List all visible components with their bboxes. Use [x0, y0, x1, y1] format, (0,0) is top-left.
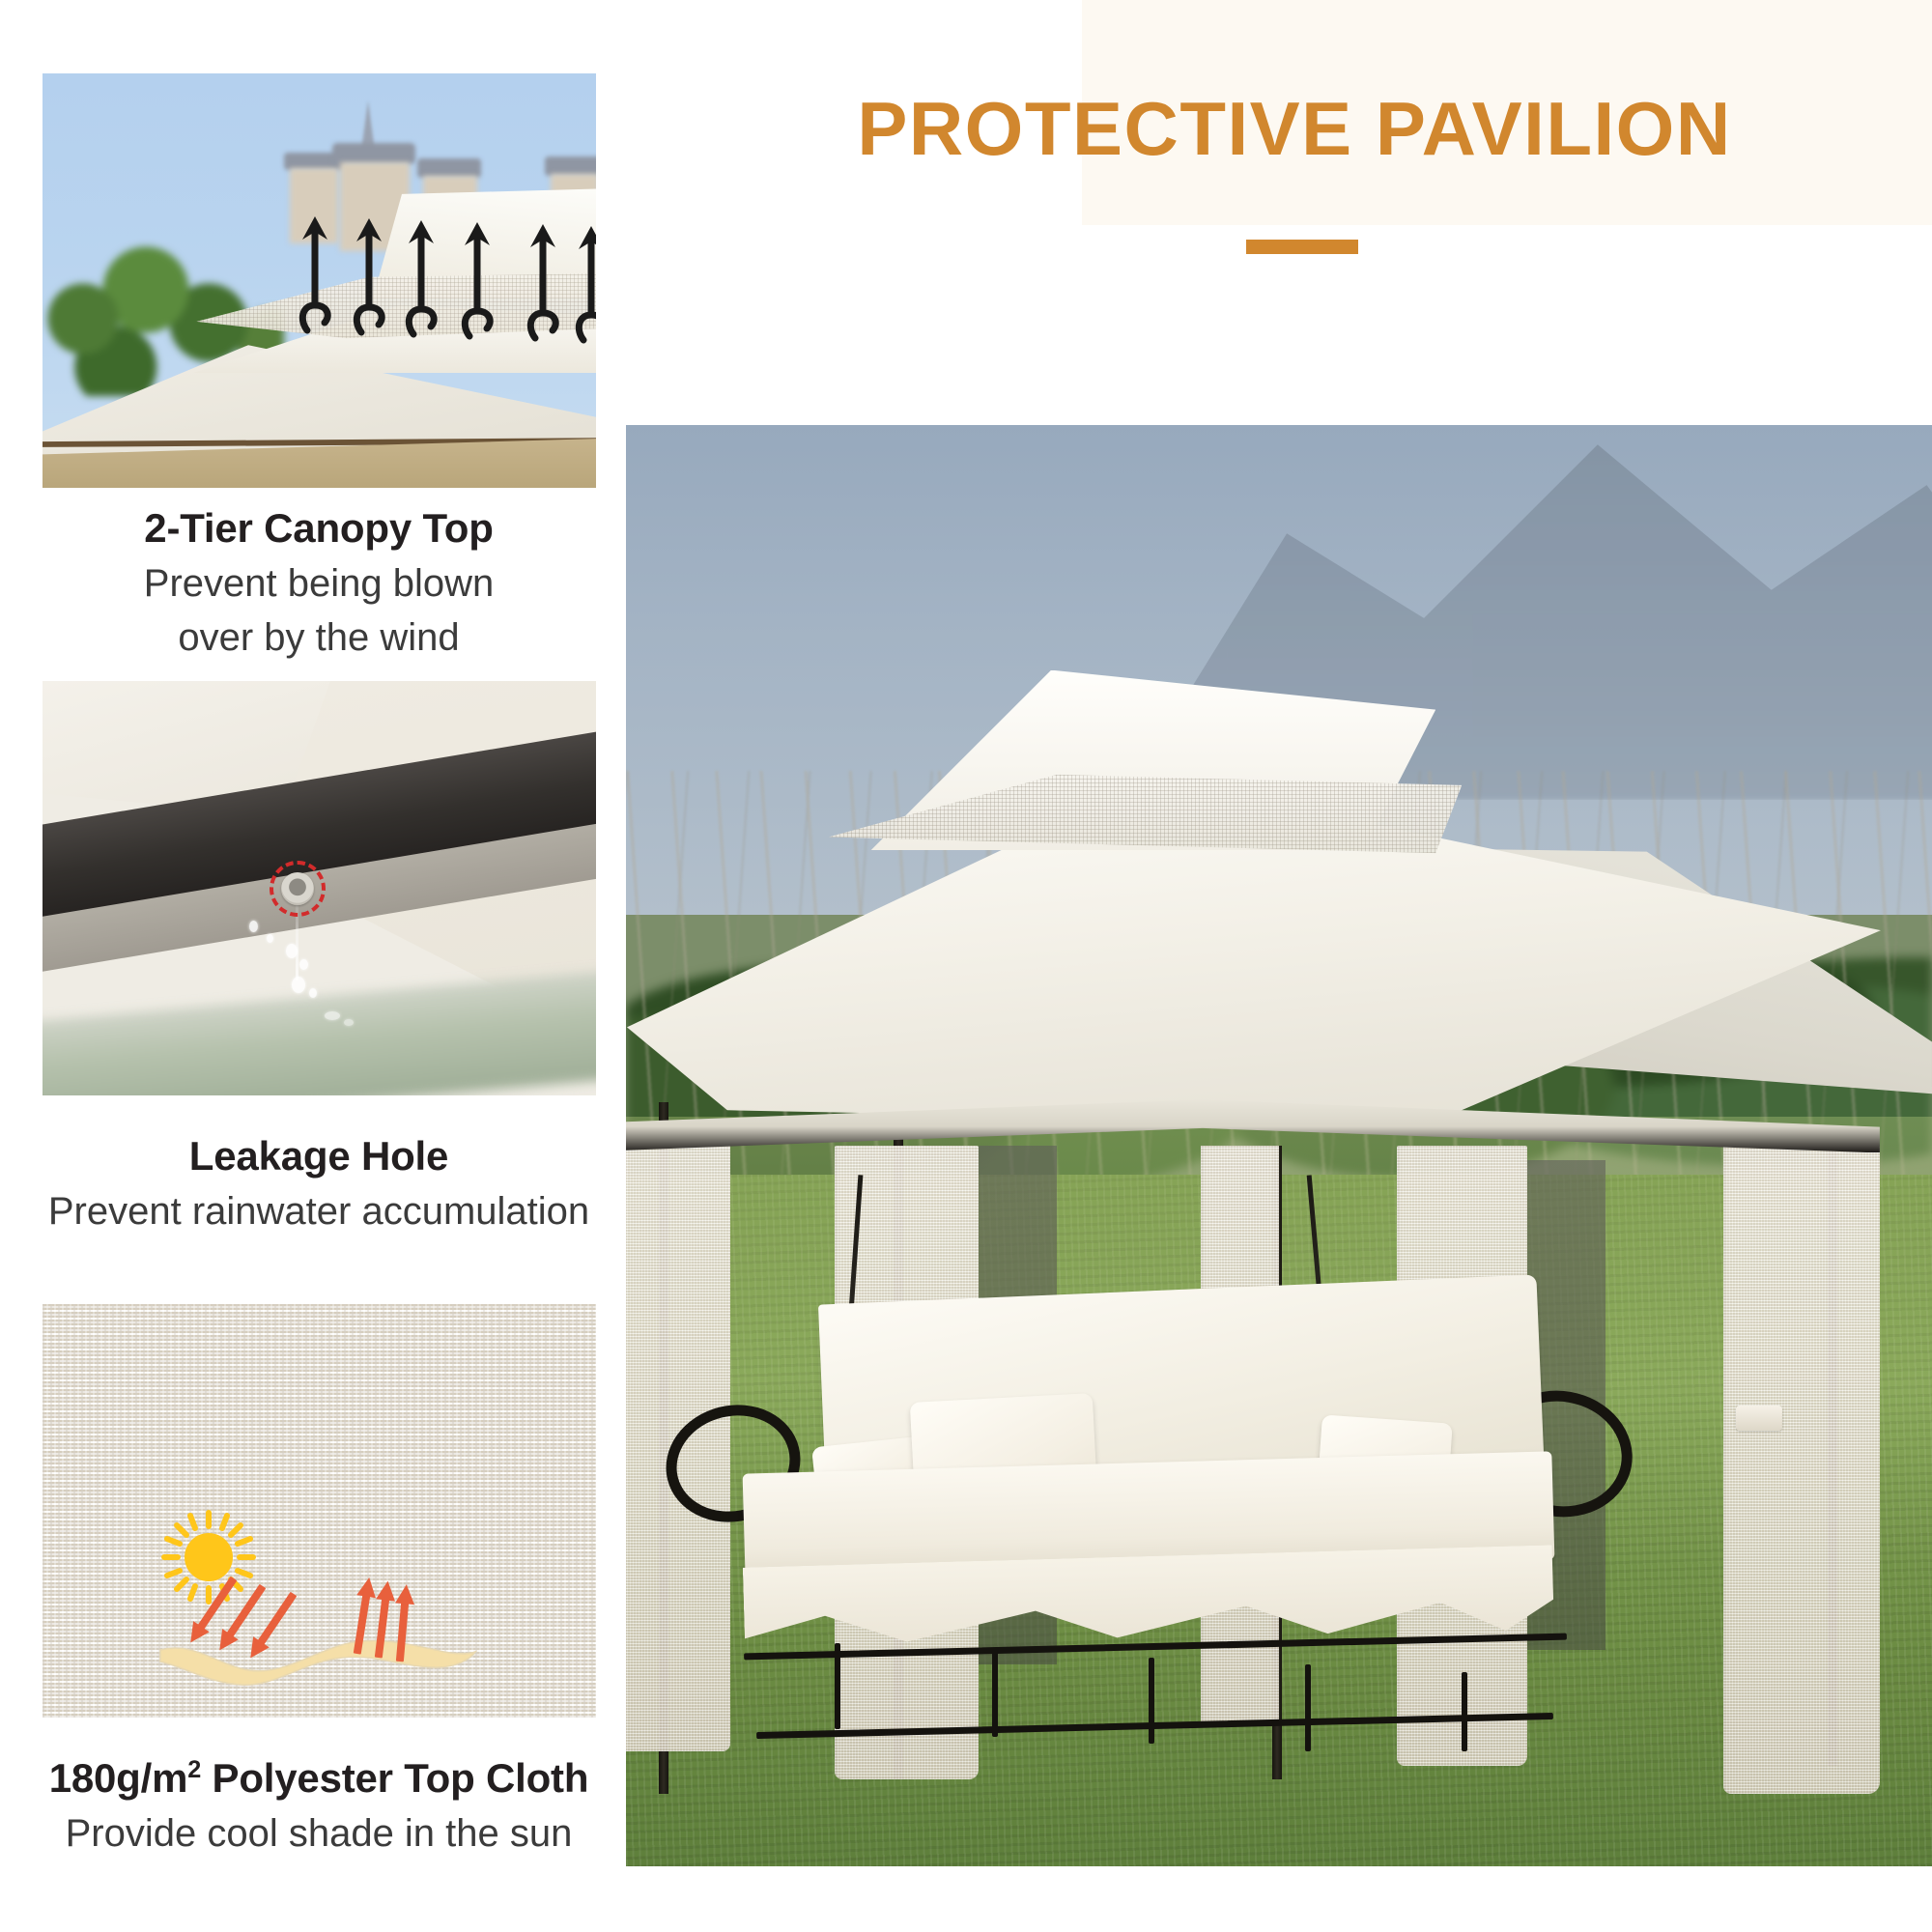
feature-image-canopy: [43, 73, 596, 488]
sun-reflection-diagram: [158, 1507, 477, 1710]
fabric-weight-value: 180g/m: [49, 1755, 188, 1801]
tower-roof-far: [545, 156, 596, 176]
water-droplet: [292, 977, 305, 993]
tower-roof-right: [417, 158, 481, 178]
feature-image-fabric: [43, 1304, 596, 1718]
feature-title: 2-Tier Canopy Top: [0, 500, 638, 556]
airflow-arrow-icon: [402, 213, 466, 338]
swing-frame-leg: [1462, 1672, 1467, 1751]
fabric-wave-shape: [160, 1640, 475, 1685]
swing-frame-leg: [992, 1650, 998, 1737]
feature-subtitle-line1: Prevent rainwater accumulation: [0, 1184, 638, 1238]
hero-product-photo: [626, 425, 1932, 1866]
swing-frame-leg: [1149, 1658, 1154, 1745]
swing-frame-leg: [835, 1643, 840, 1730]
swing-frame-leg: [1305, 1664, 1311, 1751]
airflow-arrow-icon: [572, 218, 596, 344]
feature-image-leakage: [43, 681, 596, 1095]
highlight-ring-icon: [270, 861, 326, 917]
feature-subtitle-line2: over by the wind: [0, 611, 638, 665]
feature-title: 180g/m2 Polyester Top Cloth: [0, 1750, 638, 1806]
water-droplet: [249, 921, 258, 932]
water-droplet: [309, 988, 317, 998]
mesh-curtain-far-right: [1723, 1146, 1880, 1794]
page-title: PROTECTIVE PAVILION: [657, 75, 1932, 182]
feature-title: Leakage Hole: [0, 1128, 638, 1184]
feature-caption-fabric: 180g/m2 Polyester Top Cloth Provide cool…: [0, 1750, 638, 1861]
fabric-weight-superscript: 2: [187, 1756, 201, 1783]
feature-subtitle-line1: Prevent being blown: [0, 556, 638, 611]
water-droplet: [267, 934, 273, 943]
tower-roof-mid: [332, 143, 415, 164]
airflow-arrow-icon: [458, 214, 522, 340]
feature-caption-leakage: Leakage Hole Prevent rainwater accumulat…: [0, 1128, 638, 1238]
water-droplet: [286, 944, 298, 958]
feature-caption-canopy: 2-Tier Canopy Top Prevent being blown ov…: [0, 500, 638, 665]
water-droplet: [299, 959, 308, 970]
title-divider-rule: [1246, 240, 1358, 254]
curtain-tieback: [1736, 1406, 1782, 1431]
product-feature-banner: PROTECTIVE PAVILION: [0, 0, 1932, 1932]
fabric-title-rest: Polyester Top Cloth: [201, 1755, 588, 1801]
sun-icon: [164, 1513, 253, 1602]
feature-subtitle-line1: Provide cool shade in the sun: [0, 1806, 638, 1861]
water-droplet: [344, 1019, 354, 1026]
water-droplet: [325, 1011, 340, 1020]
